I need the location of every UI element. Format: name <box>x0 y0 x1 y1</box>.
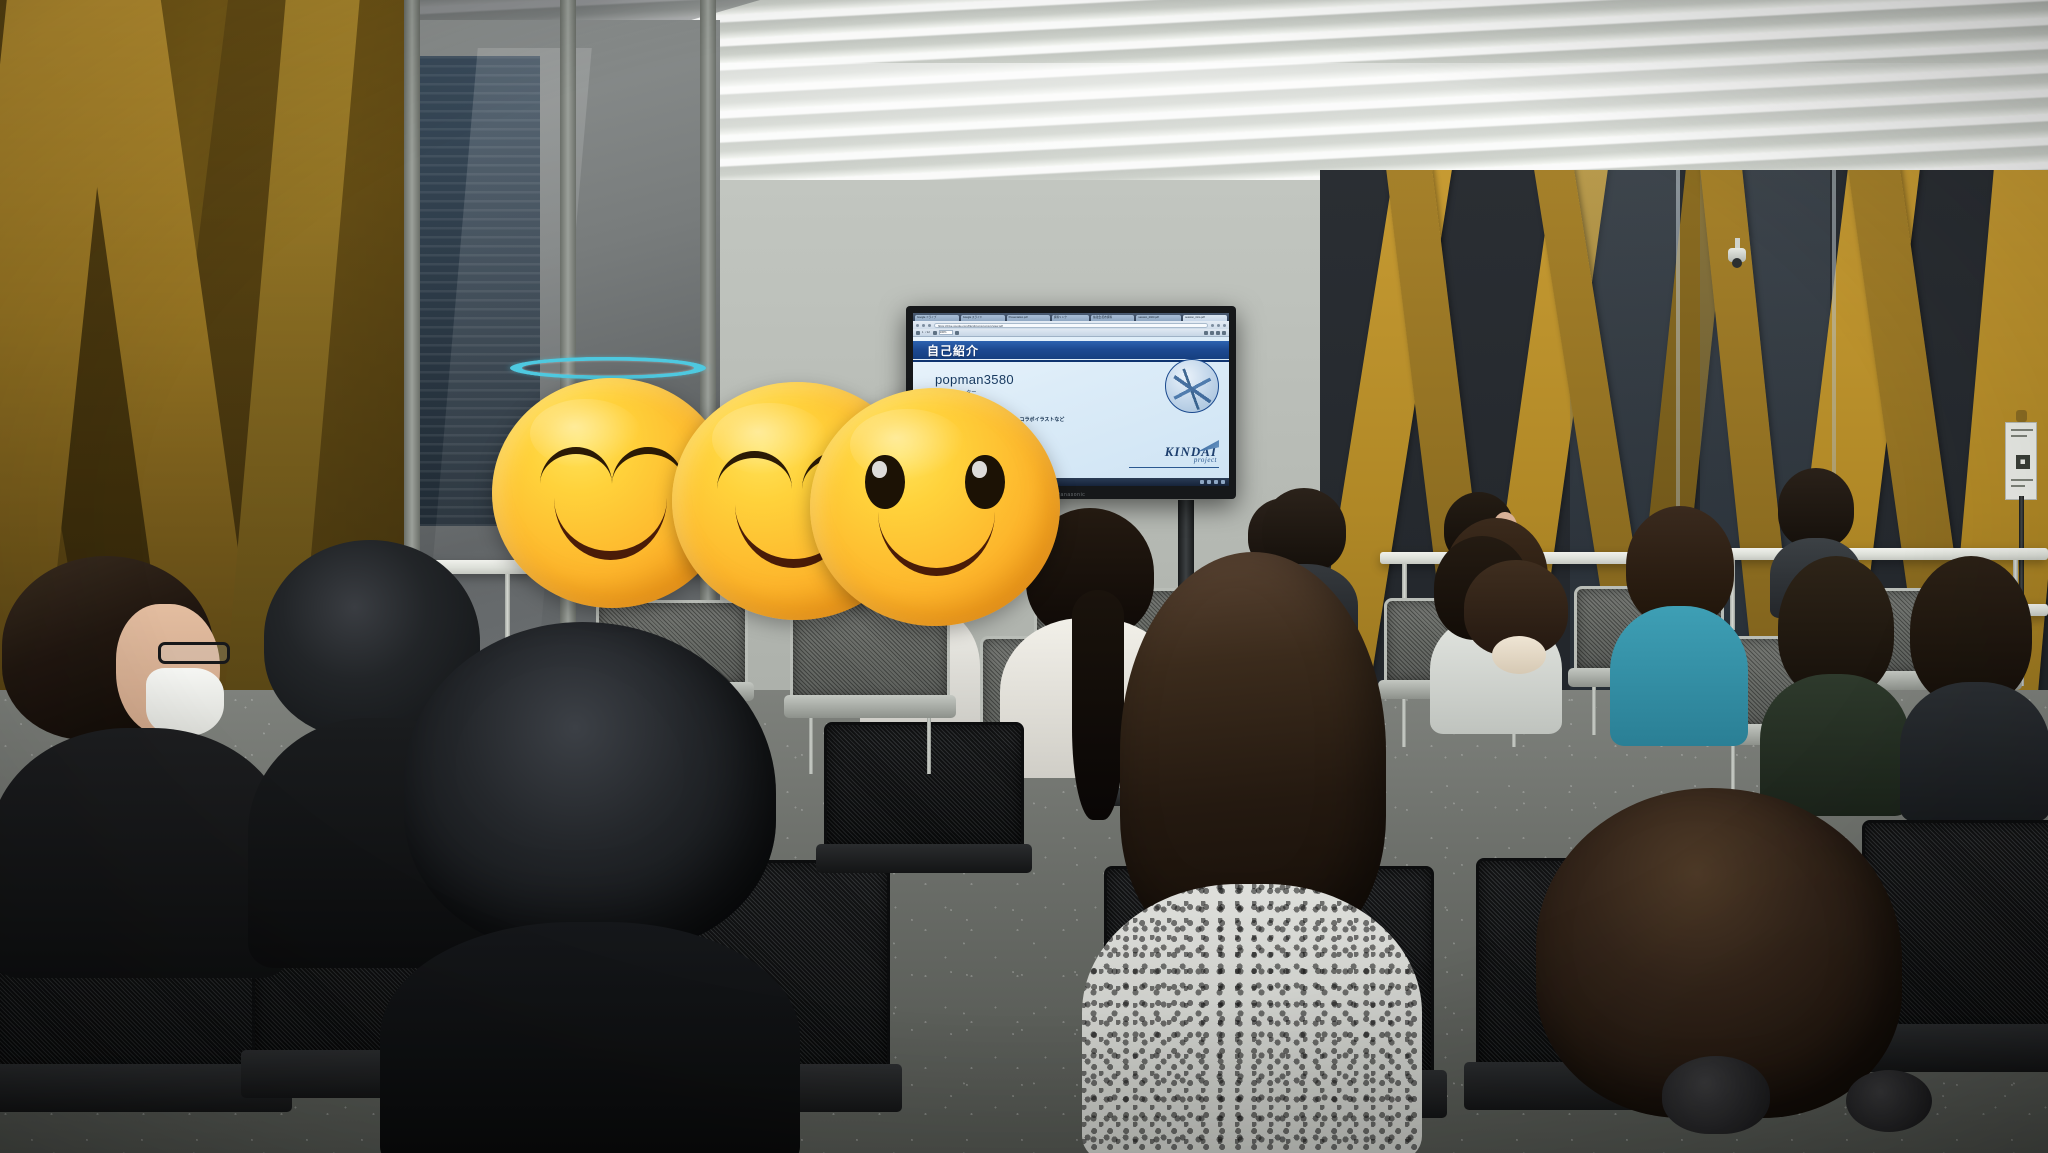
battery-icon[interactable] <box>1214 480 1218 484</box>
browser-tab-strip[interactable]: Google ドライブ Google スライド Presentation.pdf… <box>913 313 1229 321</box>
photo-scene: Google ドライブ Google スライド Presentation.pdf… <box>0 0 2048 1153</box>
audience-person <box>1900 556 2048 806</box>
halo-icon <box>510 357 706 379</box>
face-mask <box>146 668 224 736</box>
print-icon[interactable] <box>1216 331 1220 335</box>
browser-tab[interactable]: 資料リンク <box>1052 315 1089 321</box>
hair-scrunchie <box>1846 1070 1932 1132</box>
forward-arrow-icon[interactable] <box>922 324 925 327</box>
audience-person-foreground <box>1082 552 1422 1152</box>
eyeglasses-icon <box>158 642 230 664</box>
audience-person-foreground <box>1516 788 1936 1153</box>
profile-icon[interactable] <box>1217 324 1220 327</box>
zoom-value[interactable]: 100% <box>939 330 953 335</box>
slightly-smiling-face-emoji <box>810 388 1060 628</box>
browser-tab[interactable]: Google ドライブ <box>915 315 959 321</box>
zoom-out-icon[interactable] <box>933 331 937 335</box>
volume-icon[interactable] <box>1207 480 1211 484</box>
menu-icon[interactable] <box>916 331 920 335</box>
zoom-in-icon[interactable] <box>955 331 959 335</box>
pdf-viewer-toolbar[interactable]: 1 / 12 100% <box>913 329 1229 337</box>
hair-scrunchie <box>1662 1056 1770 1134</box>
slide-title: 自己紹介 <box>913 342 979 359</box>
audience-person <box>1446 560 1586 760</box>
slide-title-bar: 自己紹介 <box>913 341 1229 359</box>
menu-icon[interactable] <box>1223 324 1226 327</box>
browser-tab-active[interactable]: session_intro.pdf <box>1183 315 1227 321</box>
kindai-project-logo: KINDAI project <box>1165 444 1217 464</box>
audience-person-masked <box>0 556 290 976</box>
rotate-icon[interactable] <box>1204 331 1208 335</box>
logo-underline <box>1129 467 1219 468</box>
audience-person-foreground <box>380 622 800 1153</box>
network-icon[interactable] <box>1200 480 1204 484</box>
browser-address-bar[interactable]: https://drive.google.com/file/d/xxxxxxxx… <box>913 321 1229 329</box>
hair-scrunchie <box>1492 636 1546 674</box>
pdf-page-label: 1 <box>922 331 923 334</box>
reload-icon[interactable] <box>928 324 931 327</box>
fullscreen-icon[interactable] <box>1222 331 1226 335</box>
url-input[interactable]: https://drive.google.com/file/d/xxxxxxxx… <box>934 323 1208 328</box>
browser-tab[interactable]: 勉強会 配布資料 <box>1091 315 1134 321</box>
star-icon[interactable] <box>1211 324 1214 327</box>
pdf-page-total: / 12 <box>925 331 929 334</box>
chair[interactable] <box>824 722 1024 902</box>
audience-person <box>1760 556 1910 806</box>
security-camera-icon <box>1728 238 1746 272</box>
browser-tab[interactable]: Presentation.pdf <box>1007 315 1050 321</box>
browser-tab[interactable]: Google スライド <box>961 315 1005 321</box>
download-icon[interactable] <box>1210 331 1214 335</box>
clock-icon[interactable] <box>1221 480 1225 484</box>
audience-person <box>1610 506 1748 736</box>
presenter-name: popman3580 <box>935 372 1229 387</box>
browser-tab[interactable]: session_2023.pdf <box>1136 315 1181 321</box>
back-arrow-icon[interactable] <box>916 324 919 327</box>
